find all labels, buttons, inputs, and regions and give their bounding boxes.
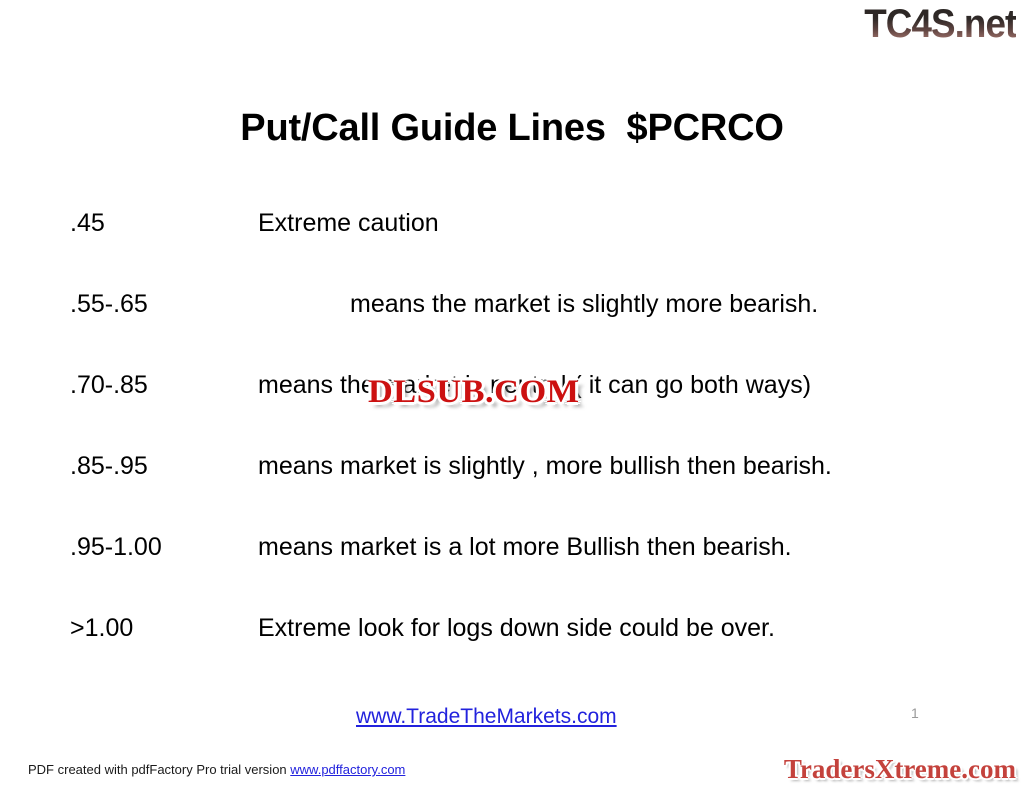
partner-logo-tradersxtreme: TradersXtreme.com: [784, 754, 1016, 785]
list-item: .45Extreme caution: [70, 206, 970, 240]
guideline-description: Extreme look for logs down side could be…: [258, 614, 775, 642]
page-title: Put/Call Guide Lines $PCRCO: [0, 107, 1024, 150]
guideline-range: .55-.65: [70, 287, 258, 321]
guideline-list: .45Extreme caution .55-.65means the mark…: [70, 206, 970, 645]
guideline-description: means the market is slightly more bearis…: [258, 290, 818, 318]
site-logo-tc4s: TC4S.net: [864, 2, 1016, 46]
list-item: >1.00Extreme look for logs down side cou…: [70, 611, 970, 645]
guideline-description: means market is slightly , more bullish …: [258, 452, 832, 480]
guideline-description: means the market is neutral ( it can go …: [258, 371, 811, 399]
list-item: .85-.95means market is slightly , more b…: [70, 449, 950, 483]
footer-website-link[interactable]: www.TradeTheMarkets.com: [356, 705, 617, 729]
guideline-range: .85-.95: [70, 449, 258, 483]
pdf-factory-notice: PDF created with pdfFactory Pro trial ve…: [28, 762, 405, 777]
page-number: 1: [911, 705, 919, 721]
guideline-range: >1.00: [70, 611, 258, 645]
list-item: .70-.85means the market is neutral ( it …: [70, 368, 950, 402]
guideline-range: .95-1.00: [70, 530, 258, 564]
pdf-factory-notice-text: PDF created with pdfFactory Pro trial ve…: [28, 762, 290, 777]
guideline-range: .45: [70, 206, 258, 240]
list-item: .55-.65means the market is slightly more…: [70, 287, 970, 321]
guideline-description: Extreme caution: [258, 209, 439, 237]
list-item: .95-1.00means market is a lot more Bulli…: [70, 530, 970, 564]
guideline-range: .70-.85: [70, 368, 258, 402]
guideline-description: means market is a lot more Bullish then …: [258, 533, 792, 561]
pdf-factory-link[interactable]: www.pdffactory.com: [290, 762, 405, 777]
